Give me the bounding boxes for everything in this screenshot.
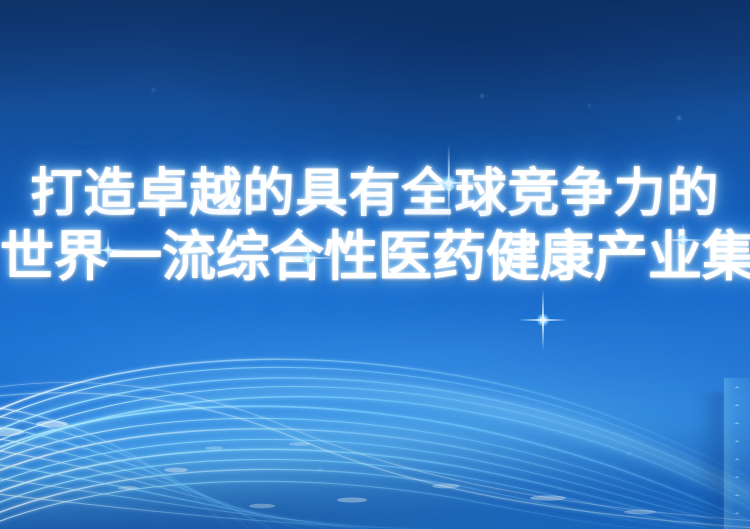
dust-mote xyxy=(588,104,591,107)
shadow-sweep xyxy=(0,383,750,529)
sky-glow xyxy=(0,0,750,529)
sparkle-icon xyxy=(660,218,706,262)
sparkle-icon xyxy=(278,228,338,288)
dust-mote xyxy=(480,94,484,98)
dust-mote xyxy=(626,452,632,455)
vignette-overlay xyxy=(0,0,750,529)
headline-line-1: 打造卓越的具有全球竞争力的 xyxy=(0,168,750,220)
building-shadow xyxy=(696,392,724,529)
sparkle-icon xyxy=(88,232,128,268)
sparkle-icon xyxy=(411,143,487,223)
promo-banner: 打造卓越的具有全球竞争力的 世界一流综合性医药健康产业集团 xyxy=(0,0,750,529)
dust-mote xyxy=(318,468,323,471)
building-silhouette-icon xyxy=(724,378,750,529)
dust-mote xyxy=(677,116,681,120)
light-sweep-primary xyxy=(0,313,750,529)
sparkle-icon xyxy=(516,288,570,352)
headline-line-2: 世界一流综合性医药健康产业集团 xyxy=(0,230,750,284)
wave-streaks-graphic xyxy=(0,0,750,529)
light-sweep-secondary xyxy=(0,338,750,529)
headline-block: 打造卓越的具有全球竞争力的 世界一流综合性医药健康产业集团 xyxy=(0,168,750,284)
dust-mote xyxy=(152,88,155,91)
light-sweep-upper xyxy=(0,274,750,446)
